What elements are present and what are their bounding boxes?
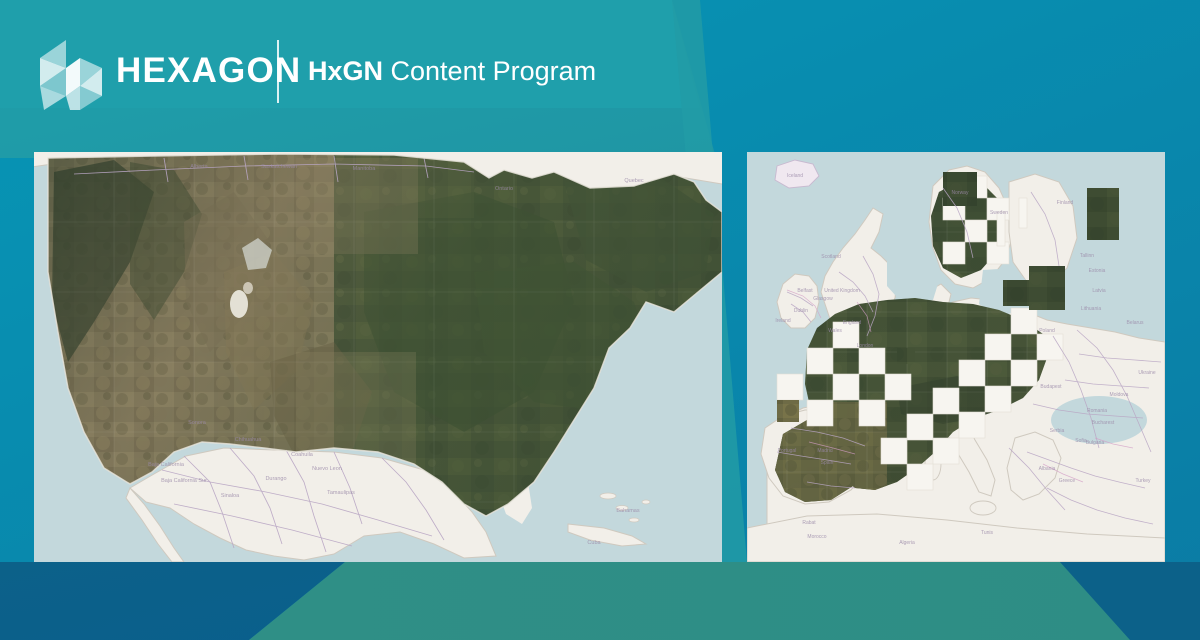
map-label: Bulgaria [1086,440,1105,446]
map-label: Ireland [775,318,791,324]
map-label: Rabat [802,520,816,526]
map-label: Romania [1087,408,1107,414]
map-label: Greece [1059,478,1076,484]
tagline-regular-part: Content Program [383,56,596,86]
map-label: Wales [828,328,842,334]
map-label: Ukraine [1138,370,1155,376]
map-label: Nuevo Leon [312,466,342,472]
map-label: Estonia [1089,268,1106,274]
map-label: Sinaloa [221,493,240,499]
program-tagline: HxGN Content Program [308,53,596,89]
map-label: Scotland [821,254,841,260]
map-label: Belarus [1127,320,1144,326]
map-label: Tamaulipas [327,490,355,496]
map-label: Chihuahua [235,437,263,443]
europe-coverage-map[interactable]: IcelandScotlandBelfastGlasgowDublinUnite… [747,152,1165,562]
map-label: Albania [1039,466,1056,472]
brand-wordmark: HEXAGON [116,48,301,94]
map-label: England [843,320,862,326]
hexagon-logo-icon [36,36,106,114]
map-label: Latvia [1092,288,1106,294]
map-label: Bahamas [616,508,639,514]
map-label: London [857,343,874,349]
map-label: Quebec [624,178,644,184]
map-label: Glasgow [813,296,833,302]
map-label: Alberta [190,164,208,170]
map-label: Baja California Sur [161,478,207,484]
map-label: Tallinn [1080,253,1094,259]
map-label: Portugal [778,448,797,454]
map-label: Finland [1057,200,1074,206]
map-label: Sofia [1075,438,1087,444]
map-label: Serbia [1050,428,1065,434]
map-label: Moldova [1110,392,1129,398]
map-label: Lithuania [1081,306,1102,312]
map-label: Norway [952,190,969,196]
poster-canvas: HEXAGON HxGN Content Program [0,0,1200,640]
map-label: Baja California [148,462,185,468]
map-label: Cuba [587,540,601,546]
map-label: Durango [265,476,286,482]
map-label: Tunis [981,530,994,536]
map-label: Bucharest [1092,420,1115,426]
map-label: Budapest [1040,384,1062,390]
map-label: Sweden [990,210,1008,216]
map-label: Iceland [787,173,803,179]
map-label: Algeria [899,540,915,546]
page-header: HEXAGON HxGN Content Program [0,0,1200,150]
map-label: Coahuila [291,452,314,458]
map-label: Morocco [807,534,826,540]
map-label: Belfast [797,288,813,294]
map-label: Spain [821,460,834,466]
united-states-coverage-map[interactable]: SonoraChihuahuaCoahuilaNuevo LeonDurango… [34,152,722,562]
map-label: Manitoba [353,166,377,172]
tagline-bold-part: HxGN [308,56,383,86]
map-label: Turkey [1135,478,1151,484]
map-label: Sonora [188,420,207,426]
map-label: Dublin [794,308,808,314]
map-label: United Kingdom [824,288,860,294]
brand-divider [277,40,279,103]
map-label: Ontario [495,186,513,192]
map-label: Madrid [817,448,833,454]
map-label: Saskatchewan [261,164,297,170]
map-label: Poland [1039,328,1055,334]
